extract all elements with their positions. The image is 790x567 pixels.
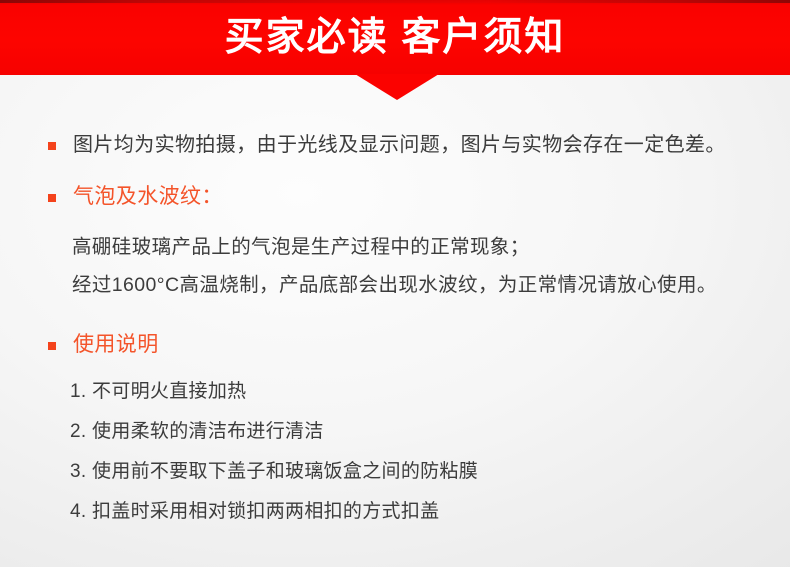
usage-heading-text: 使用说明 <box>73 331 159 359</box>
bubbles-heading-text: 气泡及水波纹： <box>73 183 223 211</box>
product-notice-page: 买家必读 客户须知 图片均为实物拍摄，由于光线及显示问题，图片与实物会存在一定色… <box>0 0 790 567</box>
notice-item-color-difference: 图片均为实物拍摄，由于光线及显示问题，图片与实物会存在一定色差。 <box>48 131 726 159</box>
notice-item-usage-heading: 使用说明 <box>48 331 159 359</box>
header-banner: 买家必读 客户须知 <box>0 0 790 75</box>
square-bullet-icon <box>48 142 56 150</box>
bubbles-line-1: 高硼硅玻璃产品上的气泡是生产过程中的正常现象； <box>72 233 530 261</box>
notice-content: 图片均为实物拍摄，由于光线及显示问题，图片与实物会存在一定色差。 气泡及水波纹：… <box>0 75 790 567</box>
usage-item-3: 3. 使用前不要取下盖子和玻璃饭盒之间的防粘膜 <box>70 458 478 486</box>
usage-item-1: 1. 不可明火直接加热 <box>70 378 246 406</box>
usage-item-4: 4. 扣盖时采用相对锁扣两两相扣的方式扣盖 <box>70 498 439 526</box>
notice-item-bubbles-heading: 气泡及水波纹： <box>48 183 223 211</box>
bubbles-line-2: 经过1600°C高温烧制，产品底部会出现水波纹，为正常情况请放心使用。 <box>72 271 717 299</box>
square-bullet-icon <box>48 342 56 350</box>
usage-item-2: 2. 使用柔软的清洁布进行清洁 <box>70 418 324 446</box>
page-title: 买家必读 客户须知 <box>0 0 790 75</box>
color-difference-text: 图片均为实物拍摄，由于光线及显示问题，图片与实物会存在一定色差。 <box>73 131 726 159</box>
square-bullet-icon <box>48 194 56 202</box>
